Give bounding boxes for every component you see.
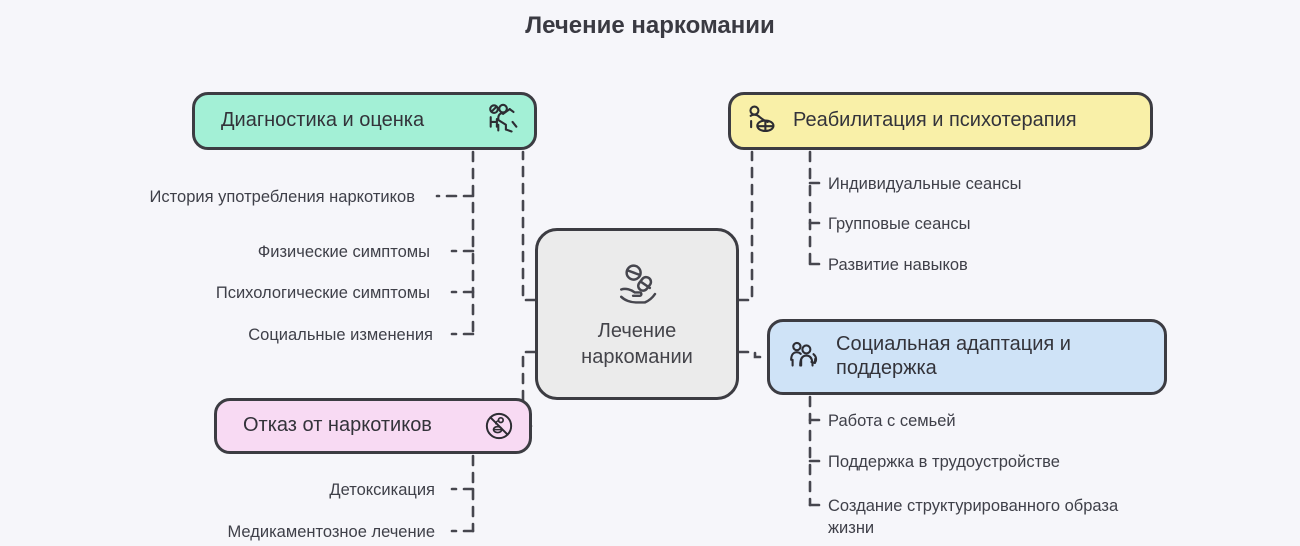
branch-node-social[interactable]: Социальная адаптация и поддержка	[767, 319, 1167, 395]
leaf-item: Поддержка в трудоустройстве	[828, 451, 1158, 473]
patient-consultation-icon	[484, 101, 524, 141]
leaf-item: Детоксикация	[180, 479, 435, 501]
branch-label-refusal: Отказ от наркотиков	[243, 414, 432, 438]
branch-node-rehab[interactable]: Реабилитация и психотерапия	[728, 92, 1153, 150]
branch-label-diagnostics: Диагностика и оценка	[221, 109, 424, 133]
leaf-item: Психологические симптомы	[130, 282, 430, 304]
mindmap-canvas: Лечение наркомании	[0, 0, 1300, 546]
leaf-item: Медикаментозное лечение	[150, 521, 435, 543]
leaf-item: Социальные изменения	[130, 324, 433, 346]
leaf-item: Индивидуальные сеансы	[828, 173, 1148, 195]
leaf-item: Создание структурированного образа жизни	[828, 495, 1158, 540]
branch-node-diagnostics[interactable]: Диагностика и оценка	[192, 92, 537, 150]
leaf-item: Работа с семьей	[828, 410, 1158, 432]
leaf-item: Групповые сеансы	[828, 213, 1148, 235]
branch-node-refusal[interactable]: Отказ от наркотиков	[214, 398, 532, 454]
leaf-item: Физические симптомы	[130, 241, 430, 263]
leaf-item: История употребления наркотиков	[100, 186, 415, 208]
central-node-label: Лечение наркомании	[581, 318, 693, 370]
people-support-icon	[784, 337, 824, 377]
no-drugs-icon	[479, 406, 519, 446]
page-title: Лечение наркомании	[0, 12, 1300, 40]
therapy-session-icon	[743, 101, 783, 141]
branch-label-social: Социальная адаптация и поддержка	[836, 333, 1071, 380]
central-node[interactable]: Лечение наркомании	[535, 228, 739, 400]
branch-label-rehab: Реабилитация и психотерапия	[793, 109, 1077, 133]
leaf-item: Развитие навыков	[828, 254, 1148, 276]
hand-holding-pills-icon	[610, 258, 664, 312]
